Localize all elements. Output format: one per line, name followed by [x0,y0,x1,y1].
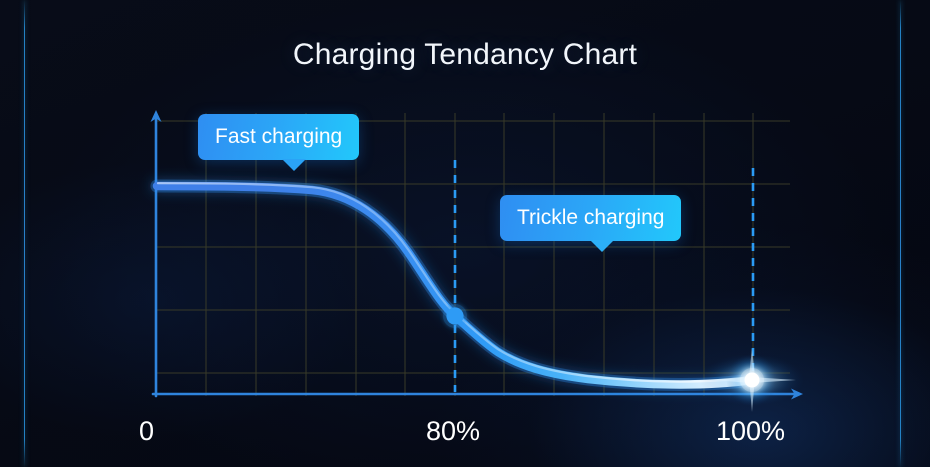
x-tick-label-0: 0 [139,418,154,445]
x-tick-label-80: 80% [426,418,480,445]
annotation-fast-charging[interactable]: Fast charging [198,114,359,160]
x-tick-label-100: 100% [716,418,785,445]
annotation-fast-charging-label: Fast charging [215,125,342,148]
callout-tail-icon [282,159,306,171]
chart-svg [0,0,930,467]
end-point [700,348,804,412]
annotation-trickle-charging[interactable]: Trickle charging [500,195,681,241]
callout-tail-icon [590,240,614,252]
charging-tendancy-chart-page: Charging Tendancy Chart [0,0,930,467]
chart-plot-area [0,0,930,467]
knee-point [443,304,467,328]
annotation-trickle-charging-label: Trickle charging [517,206,664,229]
